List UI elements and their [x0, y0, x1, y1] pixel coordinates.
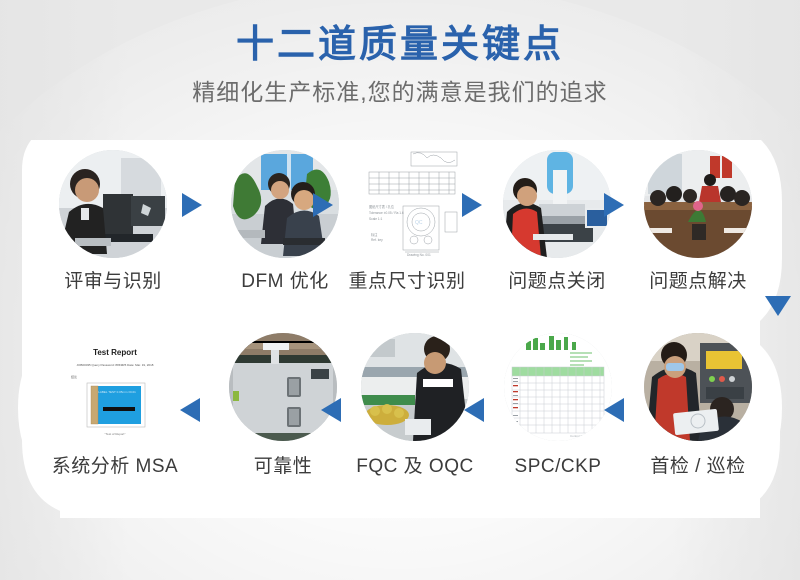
flow-node-label: SPC/CKP	[488, 455, 628, 479]
arrow-right-icon	[182, 193, 202, 217]
page-root: 十二道质量关键点 精细化生产标准,您的满意是我们的追求	[0, 0, 800, 580]
page-header: 十二道质量关键点 精细化生产标准,您的满意是我们的追求	[0, 22, 800, 107]
inspector-at-bench-photo	[361, 333, 469, 441]
flow-node-label: 系统分析 MSA	[45, 455, 185, 479]
svg-text:Tolerance ±0.05 / Ra 1.6: Tolerance ±0.05 / Ra 1.6	[369, 211, 404, 215]
svg-text:图纸尺寸表 / 孔位: 图纸尺寸表 / 孔位	[369, 204, 395, 209]
flow-node-label: 问题点解决	[628, 270, 768, 294]
flow-node-label: 评审与识别	[43, 270, 183, 294]
flow-node-dfm[interactable]: DFM 优化	[215, 150, 355, 294]
arrow-right-icon	[462, 193, 482, 217]
flow-node-label: 可靠性	[213, 455, 353, 479]
page-title: 十二道质量关键点	[0, 22, 800, 68]
page-subtitle: 精细化生产标准,您的满意是我们的追求	[0, 77, 800, 107]
svg-text:LABEL TEST 0.05mm ±0.01: LABEL TEST 0.05mm ±0.01	[98, 390, 136, 394]
meeting-room-photo	[644, 150, 752, 258]
office-worker-at-computer-photo	[59, 150, 167, 258]
svg-text:Drawing No. 001: Drawing No. 001	[407, 253, 431, 257]
flow-node-review[interactable]: 评审与识别	[43, 150, 183, 294]
svg-text:结论: 结论	[71, 374, 77, 379]
flow-node-label: FQC 及 OQC	[345, 455, 485, 479]
flow-node-label: DFM 优化	[215, 270, 355, 294]
arrow-down-icon	[765, 296, 791, 316]
arrow-right-icon	[313, 193, 333, 217]
arrow-left-icon	[604, 398, 624, 422]
svg-text:Scale 1:1: Scale 1:1	[369, 217, 383, 221]
svg-text:QC: QC	[415, 220, 423, 226]
arrow-right-icon	[604, 193, 624, 217]
arrow-left-icon	[464, 398, 484, 422]
flow-node-first-patrol-inspection[interactable]: 首检 / 巡检	[628, 333, 768, 479]
flow-node-issue-close[interactable]: 问题点关闭	[487, 150, 627, 294]
svg-text:Ref. key: Ref. key	[371, 238, 383, 242]
svg-text:标注: 标注	[371, 232, 378, 237]
flow-node-issue-resolve[interactable]: 问题点解决	[628, 150, 768, 294]
cad-technical-drawing: 图纸尺寸表 / 孔位 Tolerance ±0.05 / Ra 1.6 Scal…	[353, 150, 461, 258]
flow-node-label: 问题点关闭	[487, 270, 627, 294]
svg-text:Control Chart — SPC: Control Chart — SPC	[570, 434, 600, 438]
arrow-left-icon	[180, 398, 200, 422]
test-report-document: Test Report JOB00035 Query Password: 88K…	[61, 333, 169, 441]
flow-node-key-dimension[interactable]: 图纸尺寸表 / 孔位 Tolerance ±0.05 / Ra 1.6 Scal…	[337, 150, 477, 294]
spc-control-chart-sheet: Control Chart — SPC	[504, 333, 612, 441]
svg-text:Test Report: Test Report	[93, 348, 137, 357]
flow-node-label: 重点尺寸识别	[337, 270, 477, 294]
flow-node-label: 首检 / 巡检	[628, 455, 768, 479]
svg-text:"Test of Report": "Test of Report"	[105, 432, 126, 436]
arrow-left-icon	[321, 398, 341, 422]
environmental-test-chamber-photo	[229, 333, 337, 441]
flow-row-1: 评审与识别	[0, 150, 800, 300]
flow-row-2: Test Report JOB00035 Query Password: 88K…	[0, 333, 800, 493]
flow-node-msa[interactable]: Test Report JOB00035 Query Password: 88K…	[45, 333, 185, 479]
svg-text:JOB00035 Query Password: 88K: JOB00035 Query Password: 88K9R5 Date: Ma…	[77, 363, 154, 367]
operators-at-cnc-machine-photo	[644, 333, 752, 441]
measuring-machine-operator-photo	[503, 150, 611, 258]
